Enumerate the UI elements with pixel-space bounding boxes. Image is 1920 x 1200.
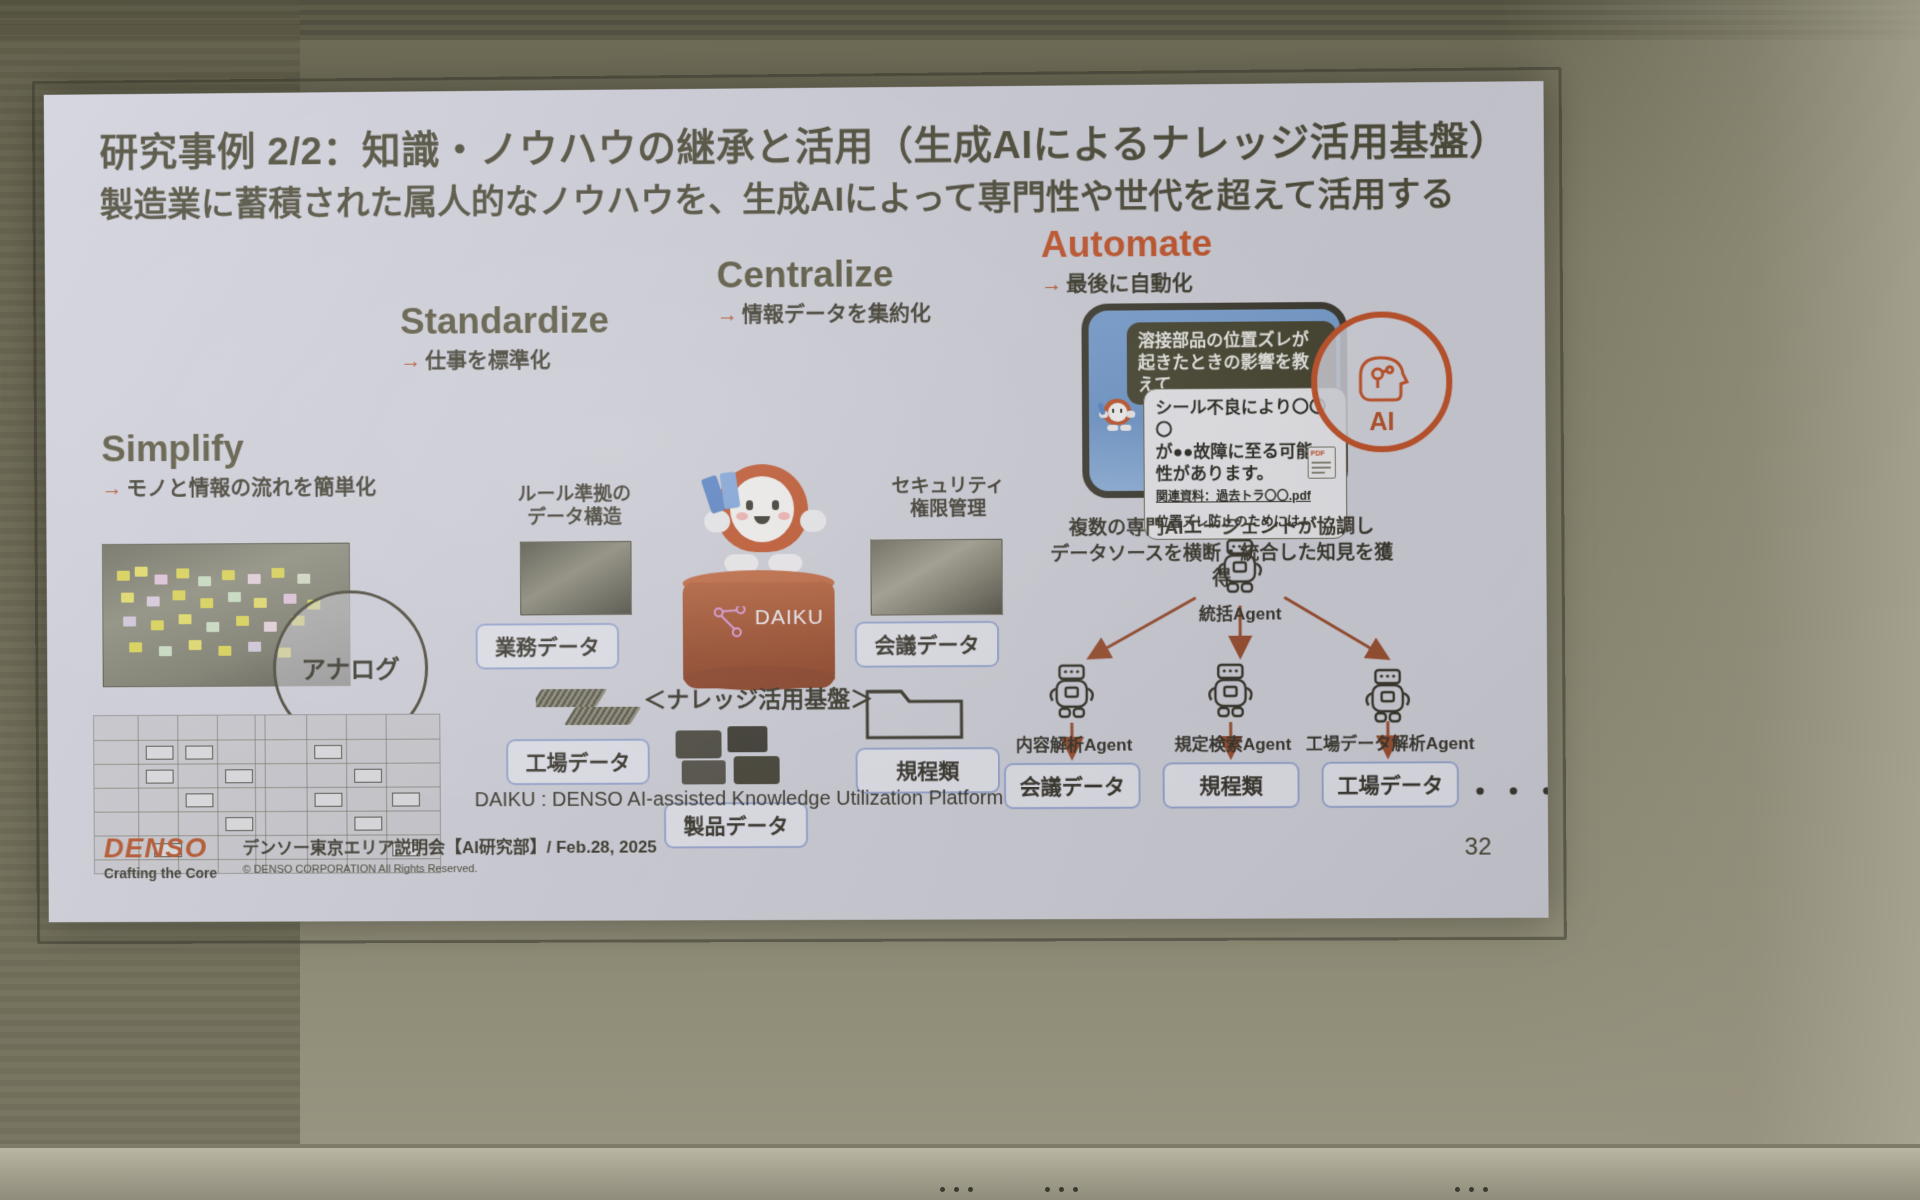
agent-source-3-chip: 工場データ <box>1322 761 1459 808</box>
agent-source-2-chip: 規程類 <box>1163 762 1300 809</box>
agent-child-3-label: 工場データ解析Agent <box>1295 729 1485 755</box>
product-parts-photo <box>675 726 795 788</box>
meeting-photo <box>870 539 1003 616</box>
worker-photo <box>520 541 632 616</box>
arrow-icon: → <box>400 350 421 373</box>
step-centralize-head: Centralize <box>717 255 931 296</box>
agent-child-2-label: 規定検索Agent <box>1162 730 1303 756</box>
presentation-slide: 研究事例 2/2：知識・ノウハウの継承と活用（生成AIによるナレッジ活用基盤） … <box>44 81 1549 922</box>
sill-line <box>0 1144 1920 1148</box>
chip-kojo-data: 工場データ <box>506 739 650 786</box>
robot-icon-child-1 <box>1043 662 1100 722</box>
step-centralize-sub: →情報データを集約化 <box>717 297 931 329</box>
footer-text: デンソー東京エリア説明会【AI研究部】/ Feb.28, 2025 © DENS… <box>242 833 657 876</box>
step-simplify-sub: →モノと情報の流れを簡単化 <box>101 470 376 502</box>
robot-icon-root <box>1211 537 1268 598</box>
connector-parts-photo <box>536 683 646 727</box>
pdf-file-icon: PDF <box>1308 446 1336 478</box>
chat-mascot-icon <box>1097 397 1137 437</box>
agent-child-1-label: 内容解析Agent <box>1004 730 1145 756</box>
daiku-mascot <box>690 458 839 589</box>
step-simplify: Simplify →モノと情報の流れを簡単化 <box>101 429 376 502</box>
sill-dots-b <box>1045 1187 1078 1192</box>
folder-icon <box>861 675 972 746</box>
denso-logo-tagline: Crafting the Core <box>104 865 217 881</box>
chip-kaigi-data: 会議データ <box>855 621 1000 668</box>
step-centralize: Centralize →情報データを集約化 <box>717 255 931 329</box>
step-standardize: Standardize →仕事を標準化 <box>400 301 609 374</box>
sill-dots-c <box>1455 1187 1488 1192</box>
robot-icon-child-3 <box>1359 667 1416 728</box>
step-standardize-head: Standardize <box>400 301 609 341</box>
robot-icon-child-2 <box>1202 662 1259 722</box>
footer-line2: © DENSO CORPORATION All Rights Reserved. <box>243 862 657 875</box>
denso-logo: DENSO Crafting the Core <box>104 832 218 881</box>
caption-security: セキュリティ 権限管理 <box>868 475 1029 522</box>
arrow-icon: → <box>101 477 122 500</box>
caption-rule-structure: ルール準拠の データ構造 <box>495 483 655 530</box>
automate-chat-panel: 溶接部品の位置ズレが 起きたときの影響を教えて シール不良により〇〇〇 が●●故… <box>1081 302 1348 498</box>
step-automate-sub: →最後に自動化 <box>1041 267 1213 298</box>
sill-dots-a <box>940 1187 973 1192</box>
step-automate-head: Automate <box>1041 225 1213 265</box>
step-standardize-sub: →仕事を標準化 <box>400 343 609 374</box>
denso-logo-main: DENSO <box>104 832 217 864</box>
arrow-icon: → <box>717 303 738 326</box>
analog-label-text: アナログ <box>301 650 400 686</box>
step-simplify-head: Simplify <box>101 429 376 469</box>
ai-head-icon <box>1350 350 1413 409</box>
daiku-brand-label: DAIKU <box>755 606 824 630</box>
agent-root-label: 統括Agent <box>1184 599 1297 625</box>
agent-more-indicator: ・・・ <box>1465 767 1549 812</box>
page-number: 32 <box>1465 833 1492 861</box>
chip-gyomu-data: 業務データ <box>476 623 620 670</box>
ai-brain-circle: AI <box>1311 311 1453 453</box>
step-automate: Automate →最後に自動化 <box>1041 225 1213 298</box>
agent-source-1-chip: 会議データ <box>1004 763 1141 810</box>
chat-reference-link[interactable]: 関連資料：過去トラ〇〇.pdf <box>1156 489 1335 506</box>
footer-line1: デンソー東京エリア説明会【AI研究部】/ Feb.28, 2025 <box>242 833 657 859</box>
window-sill <box>0 1148 1920 1200</box>
platform-caption: ＜ナレッジ活用基盤＞ <box>633 680 883 715</box>
ai-label: AI <box>1369 408 1394 437</box>
english-caption: DAIKU : DENSO AI-assisted Knowledge Util… <box>475 787 1004 812</box>
slide-title-line2: 製造業に蓄積された属人的なノウハウを、生成AIによって専門性や世代を超えて活用す… <box>100 166 1455 226</box>
arrow-icon: → <box>1041 273 1062 296</box>
